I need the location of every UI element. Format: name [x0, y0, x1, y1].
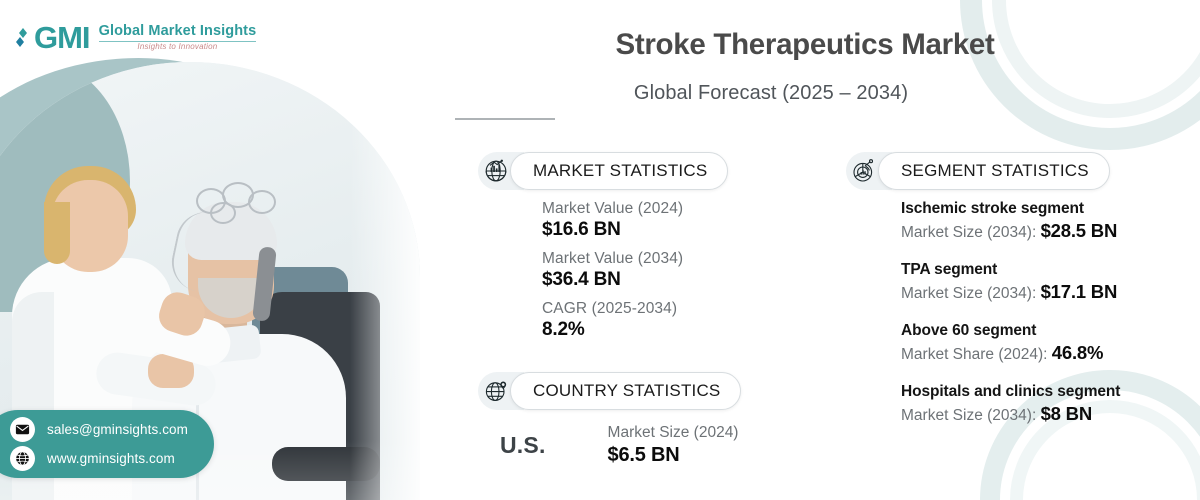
segment-metric-value: $17.1 BN	[1041, 281, 1118, 302]
segment-statistics-label: SEGMENT STATISTICS	[878, 152, 1110, 190]
envelope-icon	[10, 417, 35, 442]
segment-title: Ischemic stroke segment	[901, 200, 1120, 218]
market-stat-label: CAGR (2025-2034)	[542, 300, 683, 318]
contact-bar: sales@gminsights.com www.gminsights.com	[0, 410, 214, 478]
segment-item: TPA segment Market Size (2034): $17.1 BN	[901, 261, 1120, 303]
contact-email-row[interactable]: sales@gminsights.com	[0, 417, 188, 442]
photo-clinician-hair-side	[44, 202, 70, 264]
market-statistics-label: MARKET STATISTICS	[510, 152, 728, 190]
segment-item: Ischemic stroke segment Market Size (203…	[901, 200, 1120, 242]
market-stat-row: Market Value (2024) $16.6 BN	[542, 200, 683, 241]
title-divider	[455, 118, 555, 120]
segment-metric-value: 46.8%	[1052, 342, 1103, 363]
segment-item: Hospitals and clinics segment Market Siz…	[901, 383, 1120, 425]
country-statistics-label: COUNTRY STATISTICS	[510, 372, 741, 410]
segment-metric: Market Size (2034): $17.1 BN	[901, 281, 1120, 303]
segment-title: Above 60 segment	[901, 322, 1120, 340]
segment-metric-label: Market Size (2034):	[901, 407, 1041, 424]
segment-statistics-list: Ischemic stroke segment Market Size (203…	[901, 200, 1120, 444]
country-metric-value: $6.5 BN	[608, 444, 739, 467]
photo-eeg-electrode	[248, 190, 276, 214]
infographic-canvas: GMI Global Market Insights Insights to I…	[0, 0, 1200, 500]
segment-metric-label: Market Size (2034):	[901, 285, 1041, 302]
photo-fade-right	[350, 62, 420, 500]
segment-metric-value: $28.5 BN	[1041, 220, 1118, 241]
segment-item: Above 60 segment Market Share (2024): 46…	[901, 322, 1120, 364]
segment-metric: Market Size (2034): $28.5 BN	[901, 220, 1120, 242]
country-name: U.S.	[500, 424, 546, 459]
market-stat-value: $36.4 BN	[542, 269, 683, 291]
country-metric-label: Market Size (2024)	[608, 424, 739, 442]
gmi-monogram-icon: GMI	[14, 22, 90, 53]
diamond-mark-icon	[14, 25, 34, 51]
globe-icon	[10, 446, 35, 471]
segment-metric-label: Market Size (2034):	[901, 224, 1041, 241]
country-statistics-header: COUNTRY STATISTICS	[478, 372, 741, 410]
brand-text: Global Market Insights Insights to Innov…	[99, 24, 257, 52]
segment-statistics-header: SEGMENT STATISTICS	[846, 152, 1110, 190]
country-metric: Market Size (2024) $6.5 BN	[608, 424, 739, 467]
market-stat-label: Market Value (2034)	[542, 250, 683, 268]
segment-title: Hospitals and clinics segment	[901, 383, 1120, 401]
country-statistics-content: U.S. Market Size (2024) $6.5 BN	[500, 424, 738, 467]
contact-email-text: sales@gminsights.com	[47, 422, 188, 437]
market-stat-row: Market Value (2034) $36.4 BN	[542, 250, 683, 291]
market-stat-label: Market Value (2024)	[542, 200, 683, 218]
market-statistics-list: Market Value (2024) $16.6 BN Market Valu…	[542, 200, 683, 350]
gmi-letters: GMI	[34, 22, 90, 53]
market-stat-value: 8.2%	[542, 319, 683, 341]
contact-website-text: www.gminsights.com	[47, 451, 175, 466]
segment-metric: Market Share (2024): 46.8%	[901, 342, 1120, 364]
market-stat-row: CAGR (2025-2034) 8.2%	[542, 300, 683, 341]
segment-title: TPA segment	[901, 261, 1120, 279]
segment-metric-value: $8 BN	[1041, 403, 1092, 424]
market-statistics-header: MARKET STATISTICS	[478, 152, 728, 190]
contact-website-row[interactable]: www.gminsights.com	[0, 446, 188, 471]
segment-metric: Market Size (2034): $8 BN	[901, 403, 1120, 425]
market-stat-value: $16.6 BN	[542, 219, 683, 241]
page-subtitle: Global Forecast (2025 – 2034)	[455, 82, 1087, 105]
brand-logo: GMI Global Market Insights Insights to I…	[14, 22, 256, 53]
brand-name: Global Market Insights	[99, 24, 257, 39]
page-title: Stroke Therapeutics Market	[455, 28, 1155, 62]
segment-metric-label: Market Share (2024):	[901, 346, 1052, 363]
brand-tagline: Insights to Innovation	[99, 43, 257, 51]
